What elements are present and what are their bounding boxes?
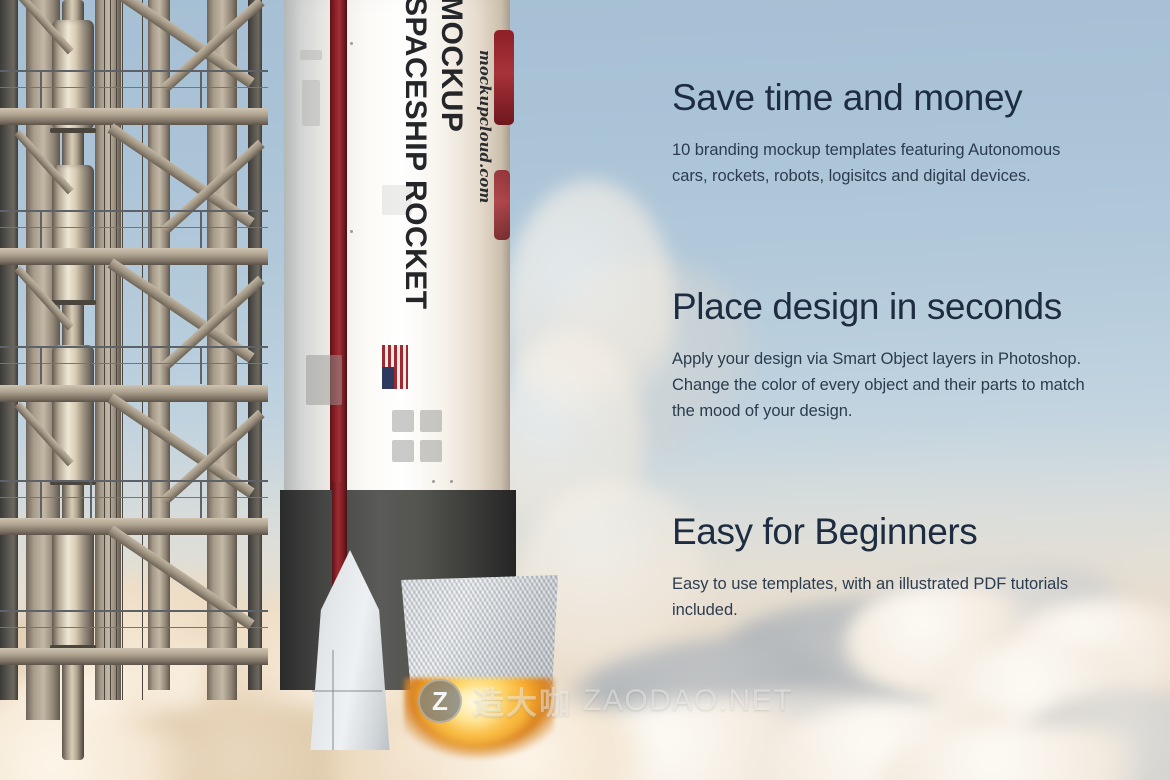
feature-heading: Place design in seconds: [672, 287, 1092, 326]
feature-heading: Easy for Beginners: [672, 512, 1092, 551]
launch-tower: [0, 0, 268, 780]
rocket-red-panel-top: [494, 30, 514, 125]
rocket-panel: [302, 80, 320, 126]
watermark-en-text: ZAODAO.NET: [583, 684, 793, 718]
rocket-panel: [392, 440, 414, 462]
feature-heading: Save time and money: [672, 78, 1092, 117]
watermark-logo-letter: Z: [432, 688, 448, 714]
feature-block-1: Save time and money 10 branding mockup t…: [672, 78, 1092, 190]
feature-block-2: Place design in seconds Apply your desig…: [672, 287, 1092, 425]
rocket-title-line2: MOCKUP: [434, 0, 468, 132]
feature-paragraph: 10 branding mockup templates featuring A…: [672, 138, 1092, 190]
us-flag-icon: [382, 345, 408, 389]
feature-block-3: Easy for Beginners Easy to use templates…: [672, 512, 1092, 624]
feature-paragraph: Apply your design via Smart Object layer…: [672, 347, 1092, 425]
rocket-panel: [300, 50, 322, 60]
feature-list: Save time and money 10 branding mockup t…: [672, 0, 1102, 780]
rocket-panel: [420, 410, 442, 432]
watermark-cn-text: 造大咖: [473, 678, 572, 723]
rocket-panel: [306, 355, 342, 405]
zaodao-logo-icon: Z: [418, 679, 462, 723]
rocket-panel: [420, 440, 442, 462]
watermark: Z 造大咖 ZAODAO.NET: [418, 678, 793, 723]
rocket-panel: [392, 410, 414, 432]
rocket-red-stripe: [330, 0, 347, 510]
rocket-url: mockupcloud.com: [476, 50, 494, 203]
rocket-vehicle: SPACESHIP ROCKET MOCKUP mockupcloud.com: [272, 0, 522, 550]
rocket-title-line1: SPACESHIP ROCKET: [398, 0, 432, 310]
mockup-promo-image: SPACESHIP ROCKET MOCKUP mockupcloud.com …: [0, 0, 1170, 780]
rocket-red-panel-mid: [494, 170, 510, 240]
feature-paragraph: Easy to use templates, with an illustrat…: [672, 572, 1092, 624]
